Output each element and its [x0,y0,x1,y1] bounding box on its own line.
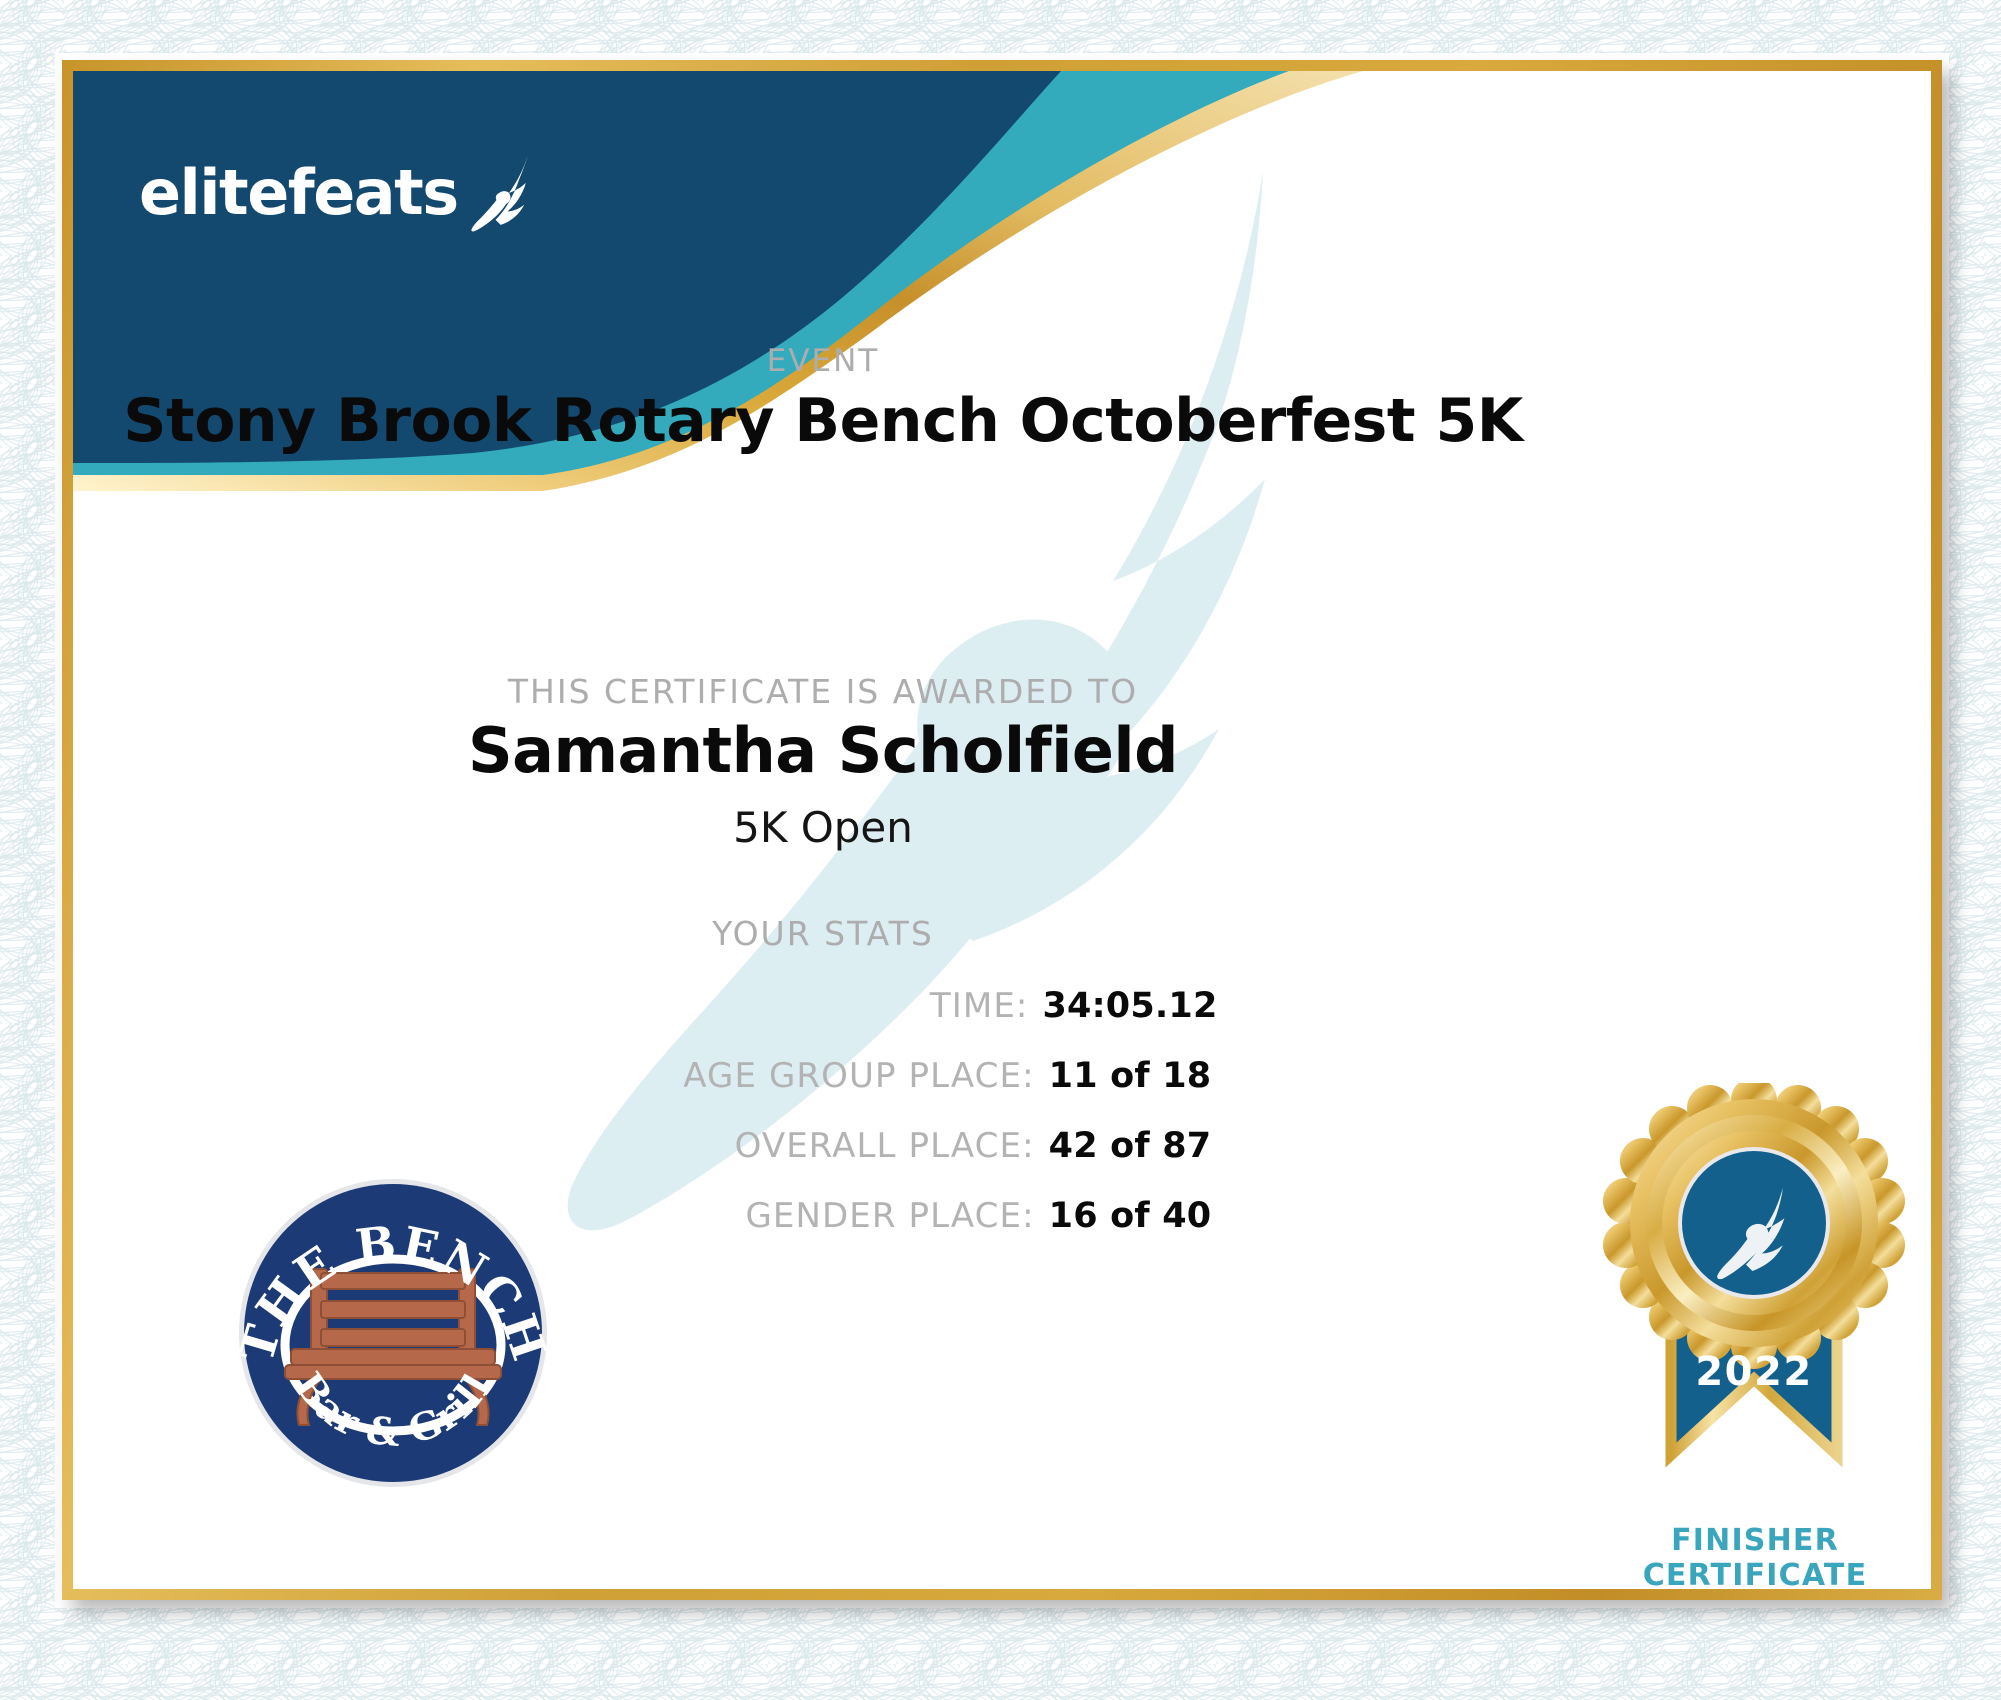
stat-value: 16 of 40 [1049,1196,1212,1236]
recipient-name: Samantha Scholfield [73,717,1573,785]
finisher-caption-line2: CERTIFICATE [1545,1558,1931,1589]
brand-logo: elitefeats [139,151,546,235]
certificate-page: elitefeats EVENT Sto [0,0,2001,1700]
division-name: 5K Open [73,803,1573,852]
finisher-medal-badge: 2022 [1575,1083,1931,1483]
event-title: Stony Brook Rotary Bench Octoberfest 5K [73,389,1573,454]
finisher-caption-line1: FINISHER [1545,1523,1931,1558]
sponsor-logo-the-bench-bar-and-grill: THE BENCH Bar & Grill [233,1173,553,1493]
gold-certificate-frame: elitefeats EVENT Sto [62,60,1942,1600]
stat-label: AGE GROUP PLACE: [435,1056,1035,1096]
your-stats-label: YOUR STATS [73,914,1573,953]
event-label: EVENT [73,343,1573,379]
stat-row-age-group-place: AGE GROUP PLACE: 11 of 18 [73,1056,1573,1100]
brand-wordmark: elitefeats [139,162,458,224]
stat-label: OVERALL PLACE: [435,1126,1035,1166]
medal-year-text: 2022 [1695,1349,1812,1395]
stat-row-time: TIME: 34:05.12 [73,986,1573,1030]
awarded-to-label: THIS CERTIFICATE IS AWARDED TO [73,672,1573,711]
stat-row-overall-place: OVERALL PLACE: 42 of 87 [73,1126,1573,1170]
stat-value: 11 of 18 [1049,1056,1212,1096]
stat-label: TIME: [428,986,1028,1026]
certificate-body: elitefeats EVENT Sto [73,71,1931,1589]
winged-foot-icon [462,151,546,235]
finisher-certificate-caption: FINISHER CERTIFICATE [1545,1523,1931,1589]
stat-value: 34:05.12 [1042,986,1217,1026]
stat-value: 42 of 87 [1049,1126,1212,1166]
